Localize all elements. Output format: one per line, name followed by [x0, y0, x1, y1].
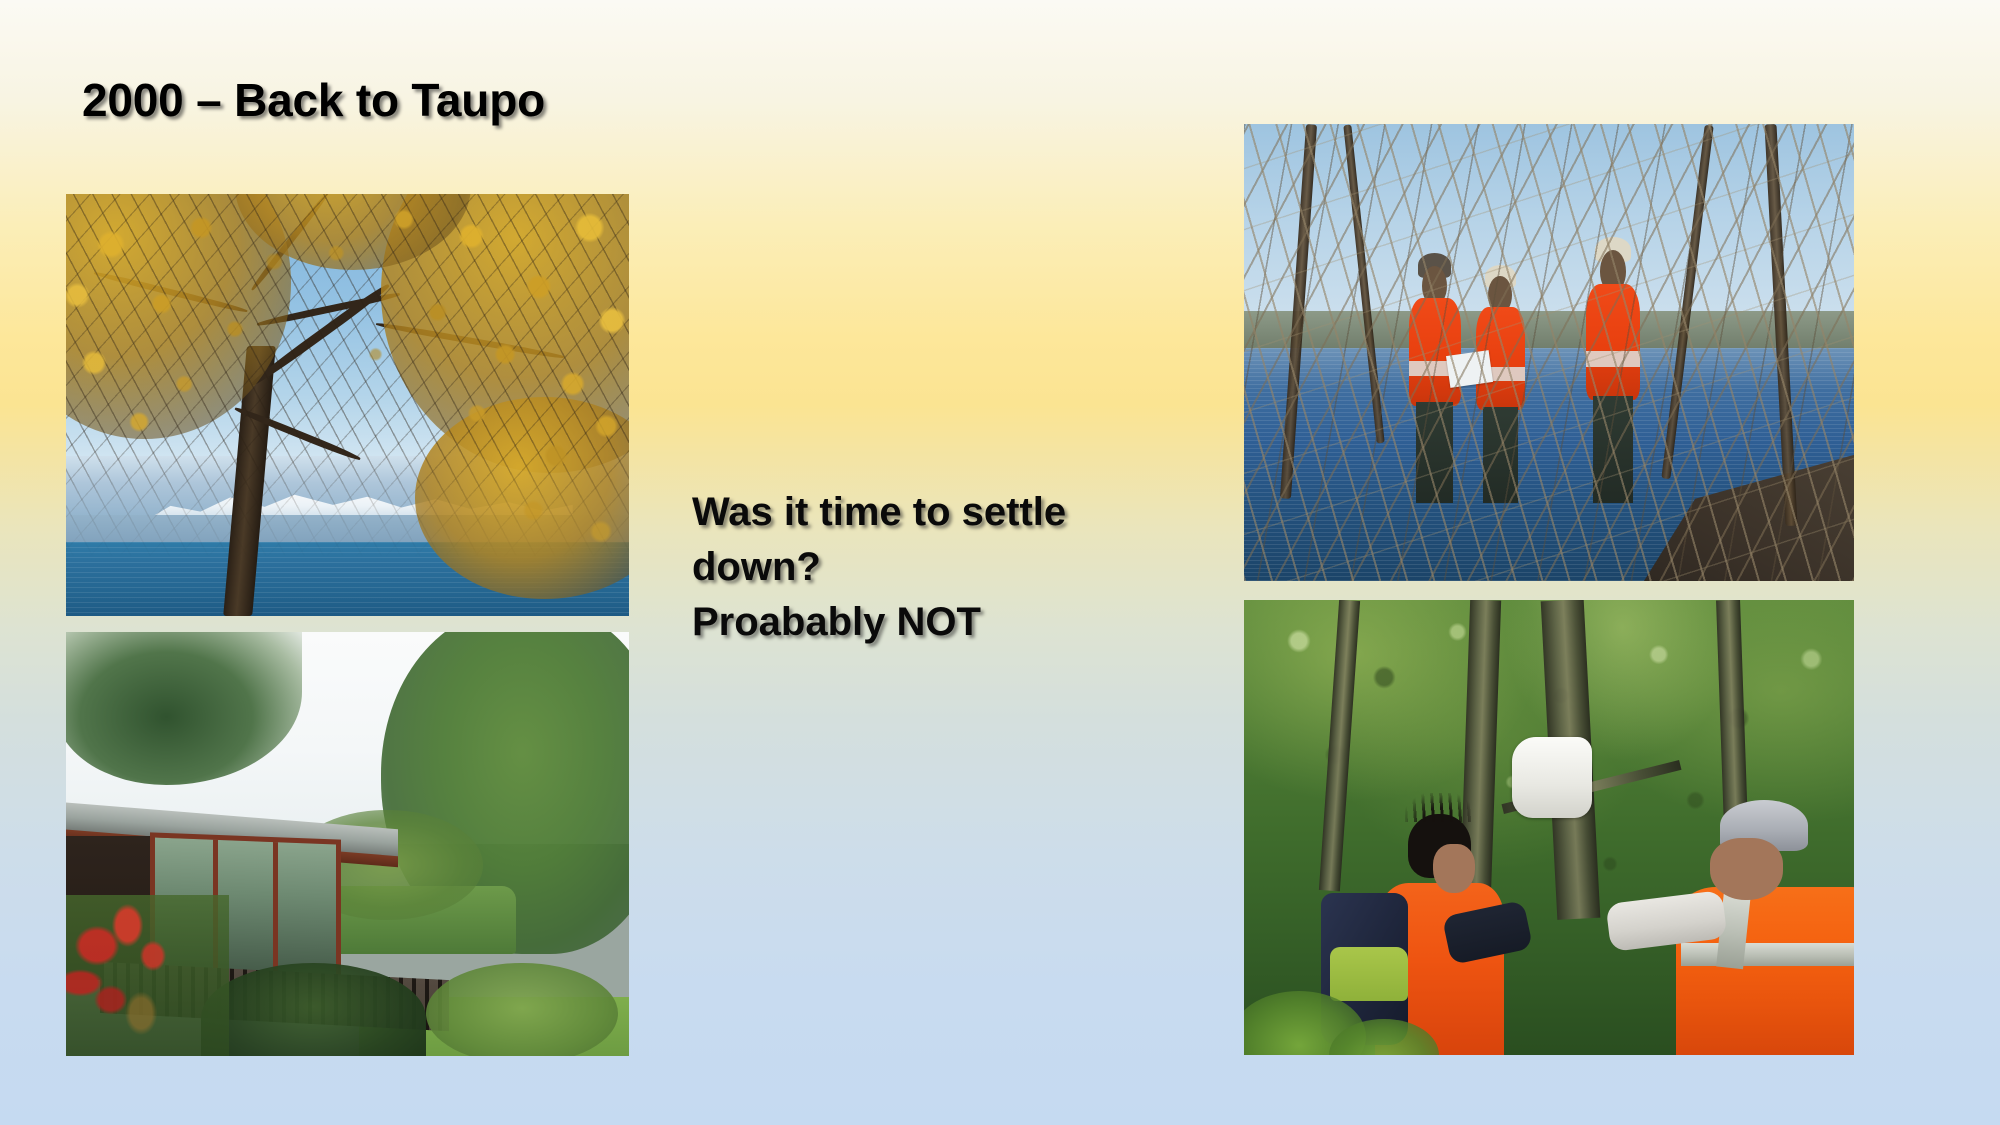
house-garden-scene: [66, 632, 629, 1056]
leaf-texture: [66, 194, 629, 616]
willow-branch-texture: [1244, 124, 1854, 581]
body-line: Was it time to settle: [692, 485, 1212, 540]
red-flowering-shrub: [66, 895, 229, 1056]
body-line: down?: [692, 540, 1212, 595]
forest-workers-scene: [1244, 600, 1854, 1055]
photo-lake-taupo: [66, 194, 629, 616]
lake-taupo-scene: [66, 194, 629, 616]
worker-face: [1433, 844, 1474, 893]
forest-worker-right: [1622, 800, 1854, 1055]
field-crew-scene: [1244, 124, 1854, 581]
photo-house-garden: [66, 632, 629, 1056]
shrub-right: [426, 963, 617, 1056]
worker-face: [1710, 838, 1783, 899]
body-text-block: Was it time to settle down? Proabably NO…: [692, 485, 1212, 651]
slide-title: 2000 – Back to Taupo: [82, 73, 545, 127]
sample-bag: [1512, 737, 1591, 819]
reflective-band: [1681, 943, 1854, 966]
photo-field-crew-willows: [1244, 124, 1854, 581]
backpack-lid: [1330, 947, 1409, 1001]
slide-canvas: 2000 – Back to Taupo: [0, 0, 2000, 1125]
body-line: Proabably NOT: [692, 595, 1212, 650]
photo-forest-workers: [1244, 600, 1854, 1055]
